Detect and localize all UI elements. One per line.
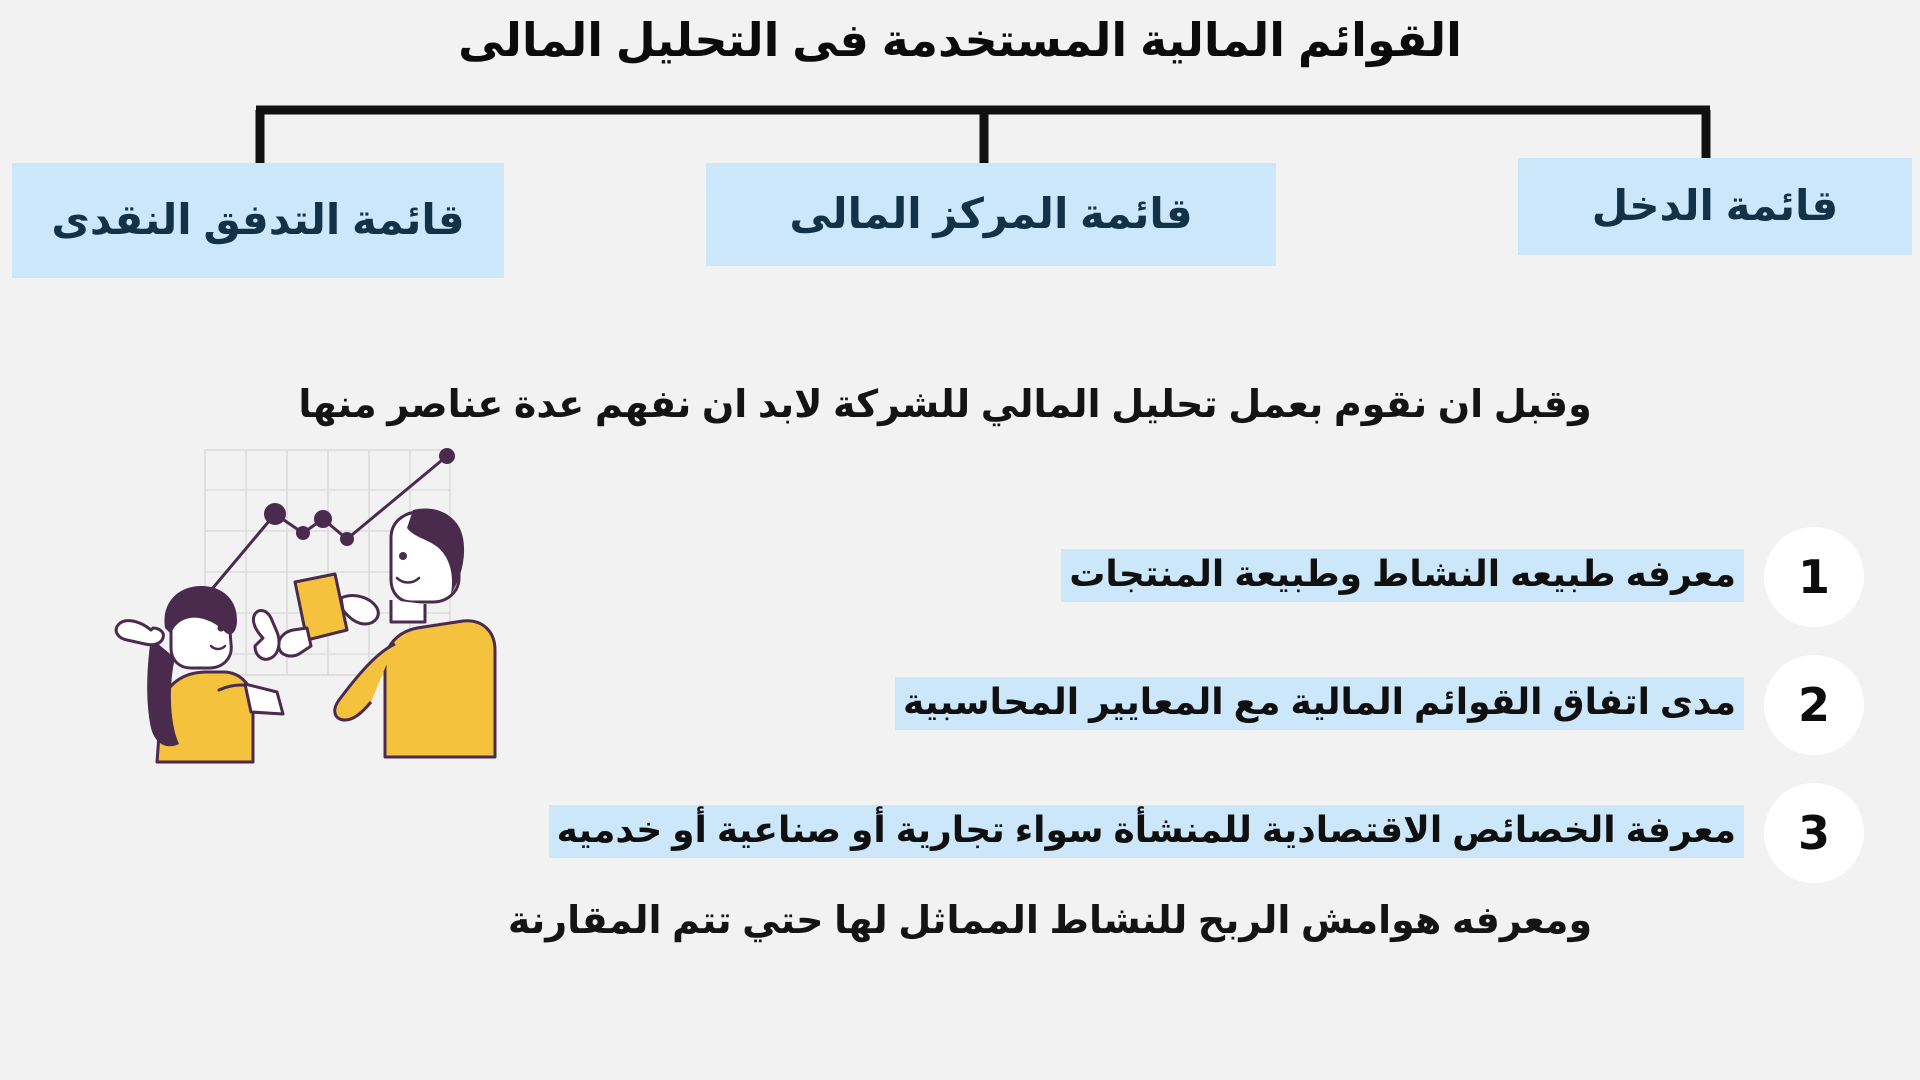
person-man-illustration <box>279 508 495 757</box>
person-woman-illustration <box>116 586 283 762</box>
list-item-number-badge: 2 <box>1764 655 1864 755</box>
list-item-label: مدى اتفاق القوائم المالية مع المعايير ال… <box>895 677 1744 730</box>
two-people-with-growth-chart-illustration <box>95 432 515 772</box>
page-title: القوائم المالية المستخدمة فى التحليل الم… <box>0 14 1920 67</box>
statement-box-cash-flow-label: قائمة التدفق النقدى <box>51 197 464 243</box>
list-item-label: معرفه طبيعه النشاط وطبيعة المنتجات <box>1061 549 1744 602</box>
statement-box-income[interactable]: قائمة الدخل <box>1518 158 1912 255</box>
statement-box-income-label: قائمة الدخل <box>1592 183 1839 229</box>
slide-canvas: القوائم المالية المستخدمة فى التحليل الم… <box>0 0 1920 1080</box>
statement-box-financial-position[interactable]: قائمة المركز المالى <box>706 163 1276 266</box>
closing-paragraph: ومعرفه هوامش الربح للنشاط المماثل لها حت… <box>0 898 1920 943</box>
list-item-number-badge: 3 <box>1764 783 1864 883</box>
list-item-number-badge: 1 <box>1764 527 1864 627</box>
intro-paragraph: وقبل ان نقوم بعمل تحليل المالي للشركة لا… <box>0 382 1920 427</box>
list-item-label: معرفة الخصائص الاقتصادية للمنشأة سواء تج… <box>549 805 1744 858</box>
statement-box-financial-position-label: قائمة المركز المالى <box>789 191 1192 237</box>
statement-box-cash-flow[interactable]: قائمة التدفق النقدى <box>12 163 504 278</box>
